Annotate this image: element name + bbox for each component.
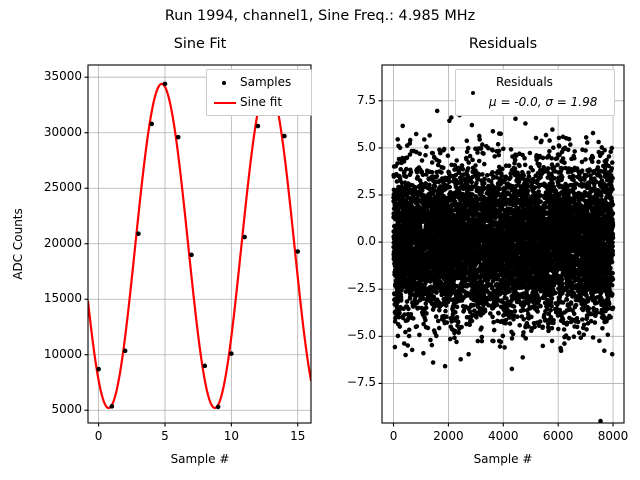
y-tick-label: 5.0: [288, 140, 376, 154]
left-axes-title: Sine Fit: [88, 36, 312, 52]
y-tick-label: 20000: [0, 236, 82, 250]
legend-samples-label: Samples: [240, 75, 291, 89]
y-tick-label: 25000: [0, 180, 82, 194]
y-tick-label: 7.5: [288, 93, 376, 107]
right-x-axis-label: Sample #: [382, 452, 624, 466]
y-tick-label: −7.5: [288, 375, 376, 389]
figure-suptitle: Run 1994, channel1, Sine Freq.: 4.985 MH…: [0, 8, 640, 24]
legend-residuals-label: Residuals: [496, 75, 553, 89]
matplotlib-figure: Run 1994, channel1, Sine Freq.: 4.985 MH…: [0, 0, 640, 480]
y-tick-label: 15000: [0, 291, 82, 305]
y-tick-label: 35000: [0, 69, 82, 83]
y-tick-label: −5.0: [288, 328, 376, 342]
legend-sinefit-label: Sine fit: [240, 95, 282, 109]
x-tick-label: 8000: [573, 429, 640, 443]
x-tick-label: 15: [258, 429, 338, 443]
legend-sinefit-marker-icon: [214, 102, 236, 104]
legend-residual-stats-label: μ = -0.0, σ = 1.98: [489, 95, 597, 109]
y-tick-label: 10000: [0, 347, 82, 361]
y-tick-label: 30000: [0, 125, 82, 139]
y-tick-label: 0.0: [288, 234, 376, 248]
legend-samples-marker-icon: [222, 81, 226, 85]
y-tick-label: −2.5: [288, 281, 376, 295]
legend-residuals-marker-icon: [471, 91, 475, 95]
left-x-axis-label: Sample #: [88, 452, 312, 466]
y-tick-label: 5000: [0, 402, 82, 416]
y-tick-label: 2.5: [288, 187, 376, 201]
right-axes-title: Residuals: [382, 36, 624, 52]
